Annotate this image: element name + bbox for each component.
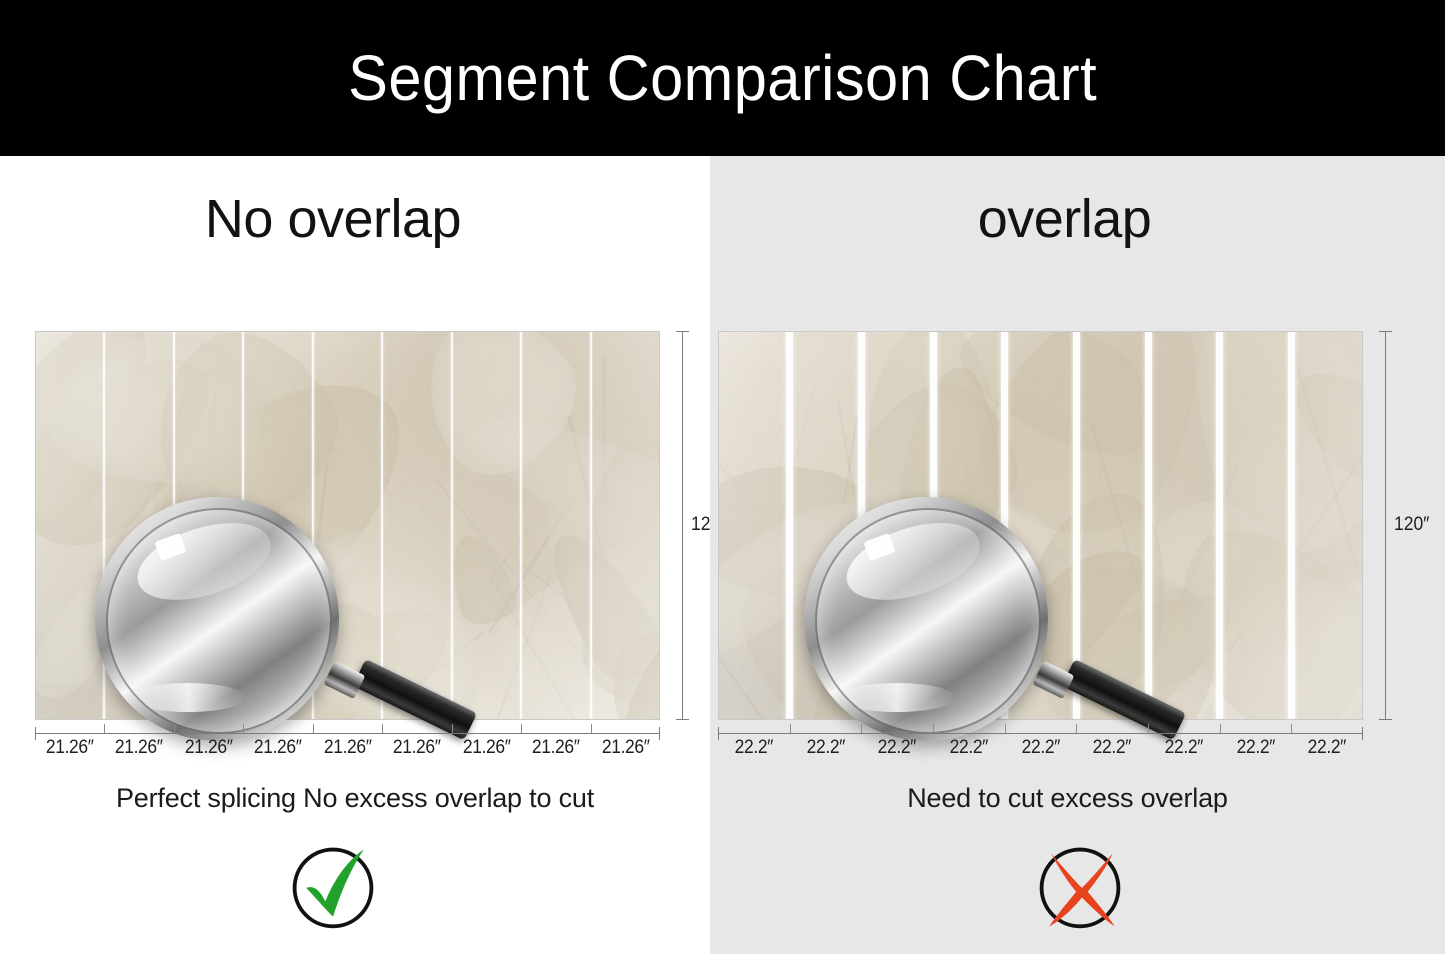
dimension-tick [591, 724, 592, 733]
segment-width-label: 22.2″ [936, 737, 1002, 759]
segment-width-label: 22.2″ [721, 737, 787, 759]
segment-width-label: 22.2″ [864, 737, 930, 759]
segment-width-label: 21.26″ [593, 737, 657, 759]
segment-width-label: 22.2″ [1222, 737, 1288, 759]
dimension-tick [1076, 724, 1077, 733]
mural-figure-overlap [718, 331, 1363, 720]
dimension-tick [452, 724, 453, 733]
dimension-tick [382, 724, 383, 733]
cross-mark-icon [1032, 838, 1128, 934]
segment-width-label: 22.2″ [1151, 737, 1217, 759]
height-dimension-line-left [682, 331, 683, 720]
dimension-tick [104, 724, 105, 733]
segment-width-label: 21.26″ [316, 737, 380, 759]
segment-width-label: 21.26″ [246, 737, 310, 759]
mural-figure-no-overlap [35, 331, 660, 720]
title-banner: Segment Comparison Chart [0, 0, 1445, 156]
panel-heading-overlap: overlap [697, 190, 1432, 249]
segment-width-label: 22.2″ [1079, 737, 1145, 759]
segment-width-label: 21.26″ [454, 737, 518, 759]
segment-width-label: 22.2″ [793, 737, 859, 759]
dimension-tick [313, 724, 314, 733]
dimension-tick [1148, 724, 1149, 733]
segment-width-label: 21.26″ [38, 737, 102, 759]
mural-image-overlap [718, 331, 1363, 720]
segment-comparison-chart: Segment Comparison Chart No overlap 120″ [0, 0, 1445, 954]
check-mark-icon [285, 838, 381, 934]
page-title: Segment Comparison Chart [348, 46, 1097, 110]
comparison-panels: No overlap 120″ 21.26″21.26″21.26″21.26″… [0, 156, 1445, 954]
dimension-tick [1291, 724, 1292, 733]
mural-image-no-overlap [35, 331, 660, 720]
height-dimension-line-right [1385, 331, 1386, 720]
segment-width-label: 21.26″ [177, 737, 241, 759]
dimension-tick [933, 724, 934, 733]
width-dimension-line-right [718, 733, 1363, 734]
segment-width-labels-right: 22.2″22.2″22.2″22.2″22.2″22.2″22.2″22.2″… [718, 737, 1363, 759]
panel-no-overlap: No overlap 120″ 21.26″21.26″21.26″21.26″… [0, 156, 710, 954]
panel-overlap: overlap 120″ 22.2″22.2″22.2″22.2″22.2″22… [710, 156, 1445, 954]
dimension-tick [521, 724, 522, 733]
segment-width-label: 21.26″ [524, 737, 588, 759]
caption-overlap: Need to cut excess overlap [700, 783, 1435, 814]
segment-width-label: 22.2″ [1007, 737, 1073, 759]
panel-heading-no-overlap: No overlap [0, 190, 688, 249]
dimension-tick [861, 724, 862, 733]
dimension-tick [790, 724, 791, 733]
segment-width-labels-left: 21.26″21.26″21.26″21.26″21.26″21.26″21.2… [35, 737, 660, 759]
dimension-tick [243, 724, 244, 733]
segment-width-label: 22.2″ [1294, 737, 1360, 759]
height-dimension-label-right: 120″ [1394, 514, 1429, 536]
caption-no-overlap: Perfect splicing No excess overlap to cu… [0, 783, 710, 814]
dimension-tick [174, 724, 175, 733]
segment-width-label: 21.26″ [385, 737, 449, 759]
dimension-tick [1220, 724, 1221, 733]
dimension-tick [1005, 724, 1006, 733]
segment-width-label: 21.26″ [107, 737, 171, 759]
width-dimension-line-left [35, 733, 660, 734]
